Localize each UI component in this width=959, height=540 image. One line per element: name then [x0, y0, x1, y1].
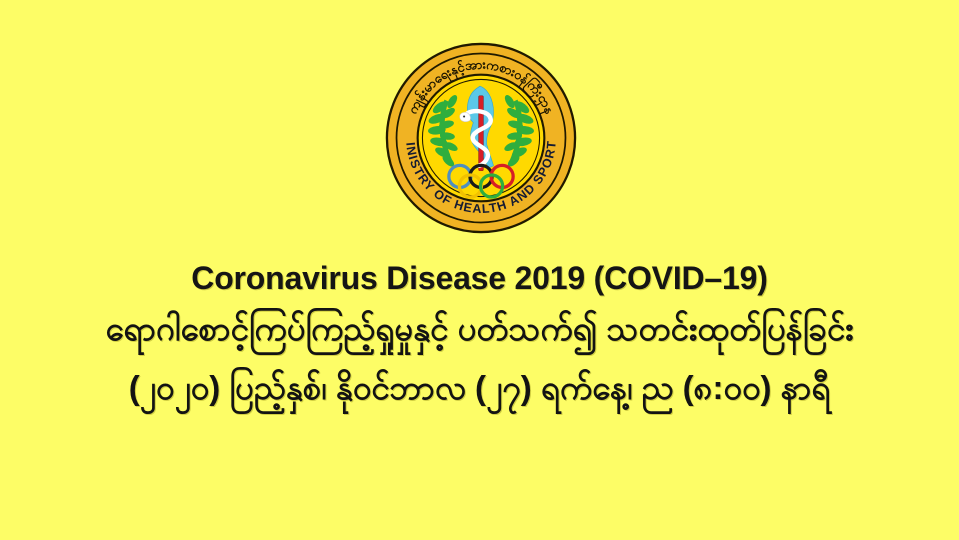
covid-announcement-poster: ကျန်းမာရေးနှင့်အားကစားဝန်ကြီးဌာန MINISTR… — [0, 0, 959, 540]
ministry-seal: ကျန်းမာရေးနှင့်အားကစားဝန်ကြီးဌာန MINISTR… — [385, 42, 577, 234]
ministry-seal-graphic: ကျန်းမာရေးနှင့်အားကစားဝန်ကြီးဌာန MINISTR… — [385, 42, 577, 234]
announcement-text-block: Coronavirus Disease 2019 (COVID–19) ရောဂ… — [0, 262, 959, 404]
announcement-subject-burmese: ရောဂါစောင့်ကြပ်ကြည့်ရှုမှုနှင့် ပတ်သက်၍ … — [0, 296, 959, 345]
announcement-title-english: Coronavirus Disease 2019 (COVID–19) — [0, 262, 959, 296]
serpent-head-icon — [460, 112, 471, 121]
asclepius-rod-icon — [479, 96, 484, 171]
announcement-datetime-burmese: (၂၀၂၀) ပြည့်နှစ်၊ နိုဝင်ဘာလ (၂၇) ရက်နေ့၊… — [0, 345, 959, 404]
serpent-eye-icon — [463, 115, 465, 117]
